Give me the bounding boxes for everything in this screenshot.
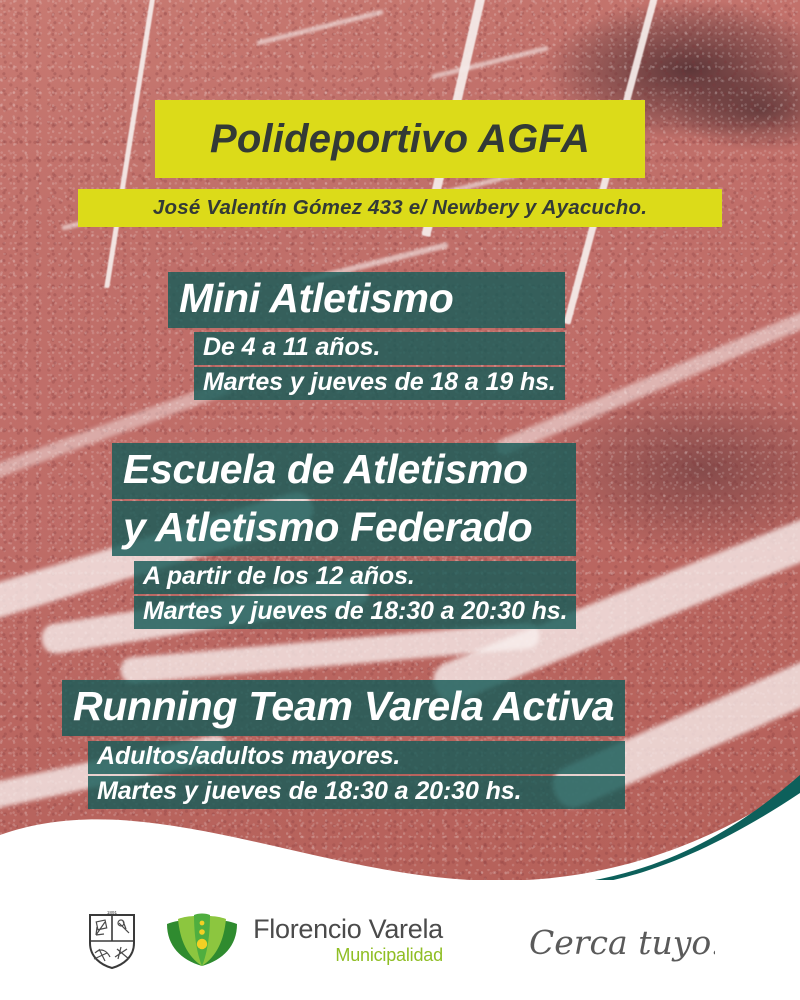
footer-bar: 1891 Florencio bbox=[0, 880, 800, 1000]
program-heading: Mini Atletismo bbox=[168, 272, 565, 328]
municipality-subtitle: Municipalidad bbox=[253, 946, 443, 964]
program-age-range: De 4 a 11 años. bbox=[194, 332, 565, 365]
municipality-logo-group: Florencio Varela Municipalidad bbox=[165, 912, 443, 968]
program-heading-line: y Atletismo Federado bbox=[112, 501, 576, 557]
municipality-name: Florencio Varela bbox=[253, 916, 443, 943]
program-heading-line: Escuela de Atletismo bbox=[112, 443, 576, 499]
florencio-varela-leaf-icon bbox=[165, 912, 239, 968]
venue-title: Polideportivo AGFA bbox=[210, 117, 590, 162]
slogan-text: Cerca tuyo. bbox=[529, 923, 715, 962]
venue-title-band: Polideportivo AGFA bbox=[155, 100, 645, 178]
poster-canvas: Polideportivo AGFA José Valentín Gómez 4… bbox=[0, 0, 800, 1000]
program-age-range: A partir de los 12 años. bbox=[134, 561, 576, 594]
municipality-wordmark: Florencio Varela Municipalidad bbox=[253, 916, 443, 964]
program-age-range: Adultos/adultos mayores. bbox=[88, 741, 625, 774]
cerca-tuyo-slogan: Cerca tuyo. bbox=[525, 908, 715, 972]
venue-address: José Valentín Gómez 433 e/ Newbery y Aya… bbox=[153, 196, 647, 220]
program-details: De 4 a 11 años. Martes y jueves de 18 a … bbox=[194, 332, 565, 400]
program-heading-line: Running Team Varela Activa bbox=[62, 680, 625, 736]
venue-address-band: José Valentín Gómez 433 e/ Newbery y Aya… bbox=[78, 189, 722, 227]
coat-of-arms-icon: 1891 bbox=[85, 909, 139, 971]
coat-of-arms-year: 1891 bbox=[107, 910, 118, 915]
program-heading-line: Mini Atletismo bbox=[168, 272, 565, 328]
program-schedule: Martes y jueves de 18:30 a 20:30 hs. bbox=[134, 596, 576, 629]
program-heading: Escuela de Atletismo y Atletismo Federad… bbox=[112, 443, 576, 556]
program-heading: Running Team Varela Activa bbox=[62, 680, 625, 736]
program-details: A partir de los 12 años. Martes y jueves… bbox=[134, 561, 576, 629]
program-schedule: Martes y jueves de 18 a 19 hs. bbox=[194, 367, 565, 400]
program-escuela-de-atletismo: Escuela de Atletismo y Atletismo Federad… bbox=[112, 443, 576, 629]
program-mini-atletismo: Mini Atletismo De 4 a 11 años. Martes y … bbox=[168, 272, 565, 400]
